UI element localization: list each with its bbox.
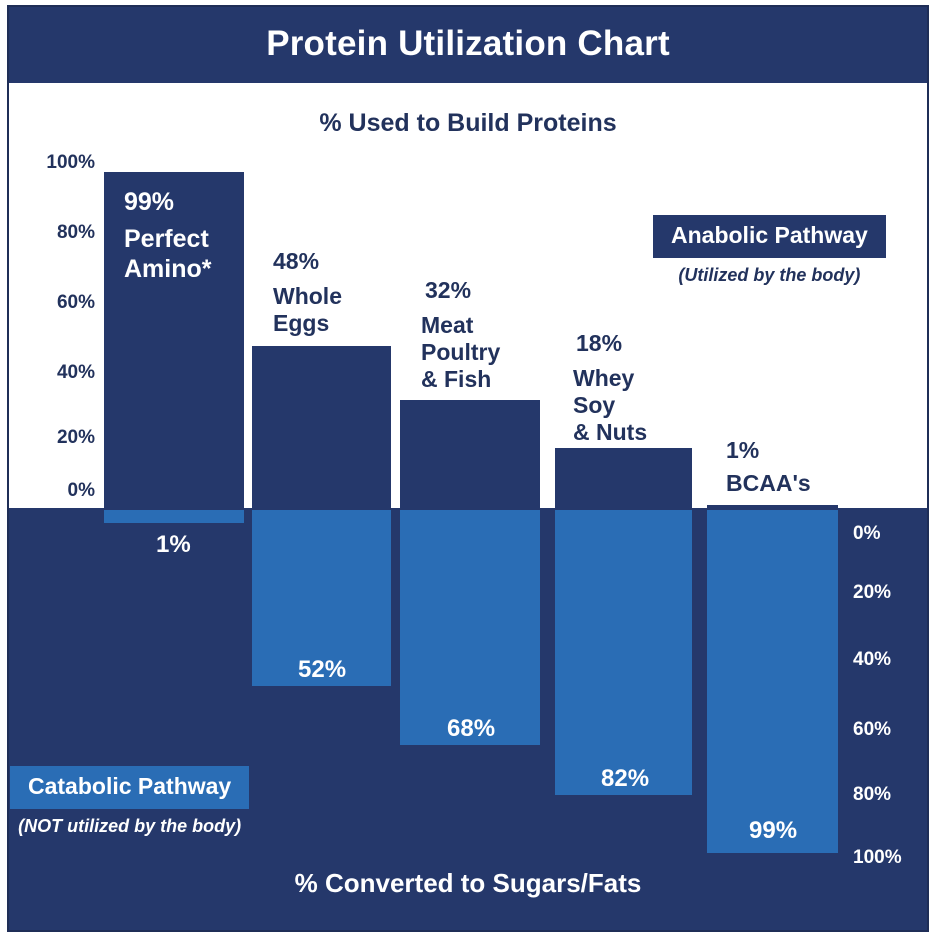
protein-utilization-chart: % Used to Build Proteins Protein Utiliza… [0,0,936,940]
chart-frame [7,5,929,932]
